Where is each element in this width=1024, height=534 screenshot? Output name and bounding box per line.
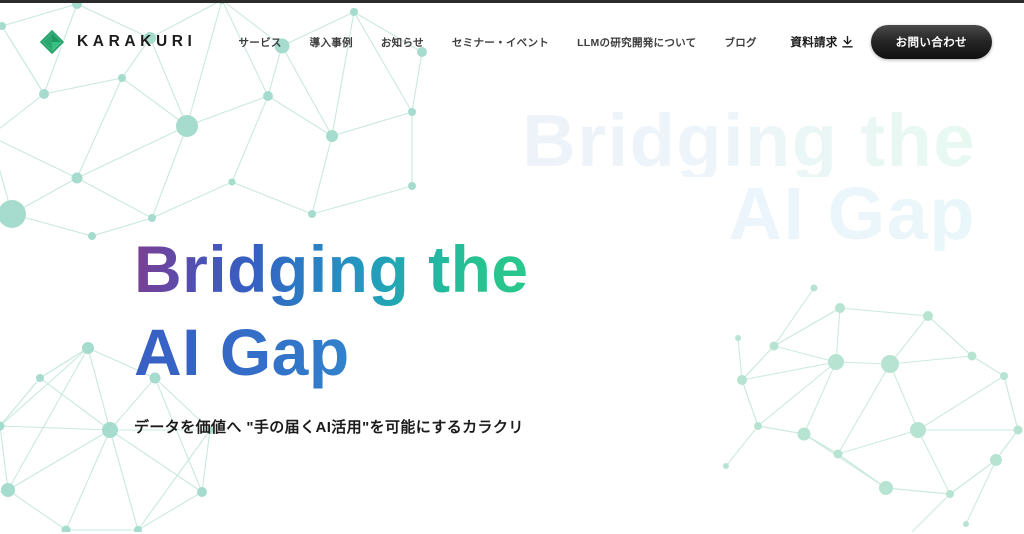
nav-item-news[interactable]: お知らせ [367, 29, 438, 56]
nav-item-blog[interactable]: ブログ [710, 29, 770, 56]
hero-section: Bridging the AI Gap データを価値へ "手の届くAI活用"を可… [134, 228, 529, 437]
brand-logo[interactable]: KARAKURI [38, 28, 196, 56]
brand-name: KARAKURI [77, 33, 196, 51]
karakuri-diamond-logo-icon [38, 28, 66, 56]
hero-subtitle: データを価値へ "手の届くAI活用"を可能にするカラクリ [134, 416, 529, 437]
main-navigation: サービス 導入事例 お知らせ セミナー・イベント LLMの研究開発について ブロ… [224, 29, 790, 56]
nav-item-case-studies[interactable]: 導入事例 [296, 29, 367, 56]
network-bottom-right-decor [718, 280, 1024, 534]
ghost-headline-line1: Bridging the [522, 104, 976, 177]
download-icon [842, 36, 853, 48]
page-root: Bridging the AI Gap KARAKURI サービス 導入事例 お… [0, 0, 1024, 534]
contact-button[interactable]: お問い合わせ [871, 25, 992, 59]
hero-headline-line1: Bridging the [134, 228, 529, 311]
nav-item-services[interactable]: サービス [224, 29, 295, 56]
ghost-headline-line2: AI Gap [522, 177, 976, 250]
ghost-headline: Bridging the AI Gap [522, 104, 976, 251]
nav-item-llm-research[interactable]: LLMの研究開発について [563, 29, 710, 56]
document-request-label: 資料請求 [790, 34, 837, 50]
site-header: KARAKURI サービス 導入事例 お知らせ セミナー・イベント LLMの研究… [0, 0, 1024, 84]
top-edge-strip [0, 0, 1024, 3]
document-request-link[interactable]: 資料請求 [790, 34, 852, 50]
nav-item-seminars-events[interactable]: セミナー・イベント [438, 29, 563, 56]
hero-headline-line2: AI Gap [134, 311, 529, 394]
header-actions: 資料請求 お問い合わせ [790, 25, 992, 59]
